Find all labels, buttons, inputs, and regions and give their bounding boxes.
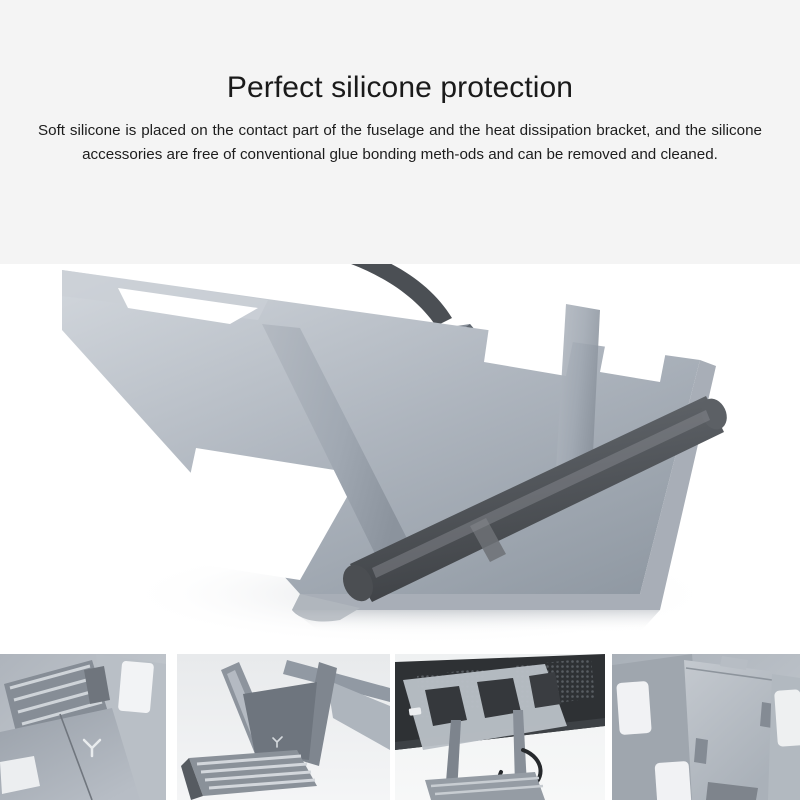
thumbnail-2-illustration [177, 654, 390, 800]
hero-illustration [0, 264, 800, 646]
thumbnail-3-illustration [395, 654, 605, 800]
thumbnail-laptop-mounted[interactable] [395, 654, 605, 800]
cutout-right-outer [600, 310, 672, 382]
contact-shadow [292, 610, 660, 632]
thumbnail-1-illustration [0, 654, 166, 800]
thumbnail-strip [0, 654, 800, 800]
page-title: Perfect silicone protection [0, 71, 800, 105]
product-feature-page: Perfect silicone protection Soft silicon… [0, 0, 800, 800]
thumbnail-base-silicone-strips[interactable] [0, 654, 166, 800]
header-panel: Perfect silicone protection Soft silicon… [0, 0, 800, 264]
thumbnail-folded-stand[interactable] [177, 654, 390, 800]
thumbnail-flat-panels[interactable] [612, 654, 800, 800]
hero-product-image [0, 264, 800, 646]
thumbnail-4-illustration [612, 654, 800, 800]
page-description: Soft silicone is placed on the contact p… [38, 119, 762, 167]
